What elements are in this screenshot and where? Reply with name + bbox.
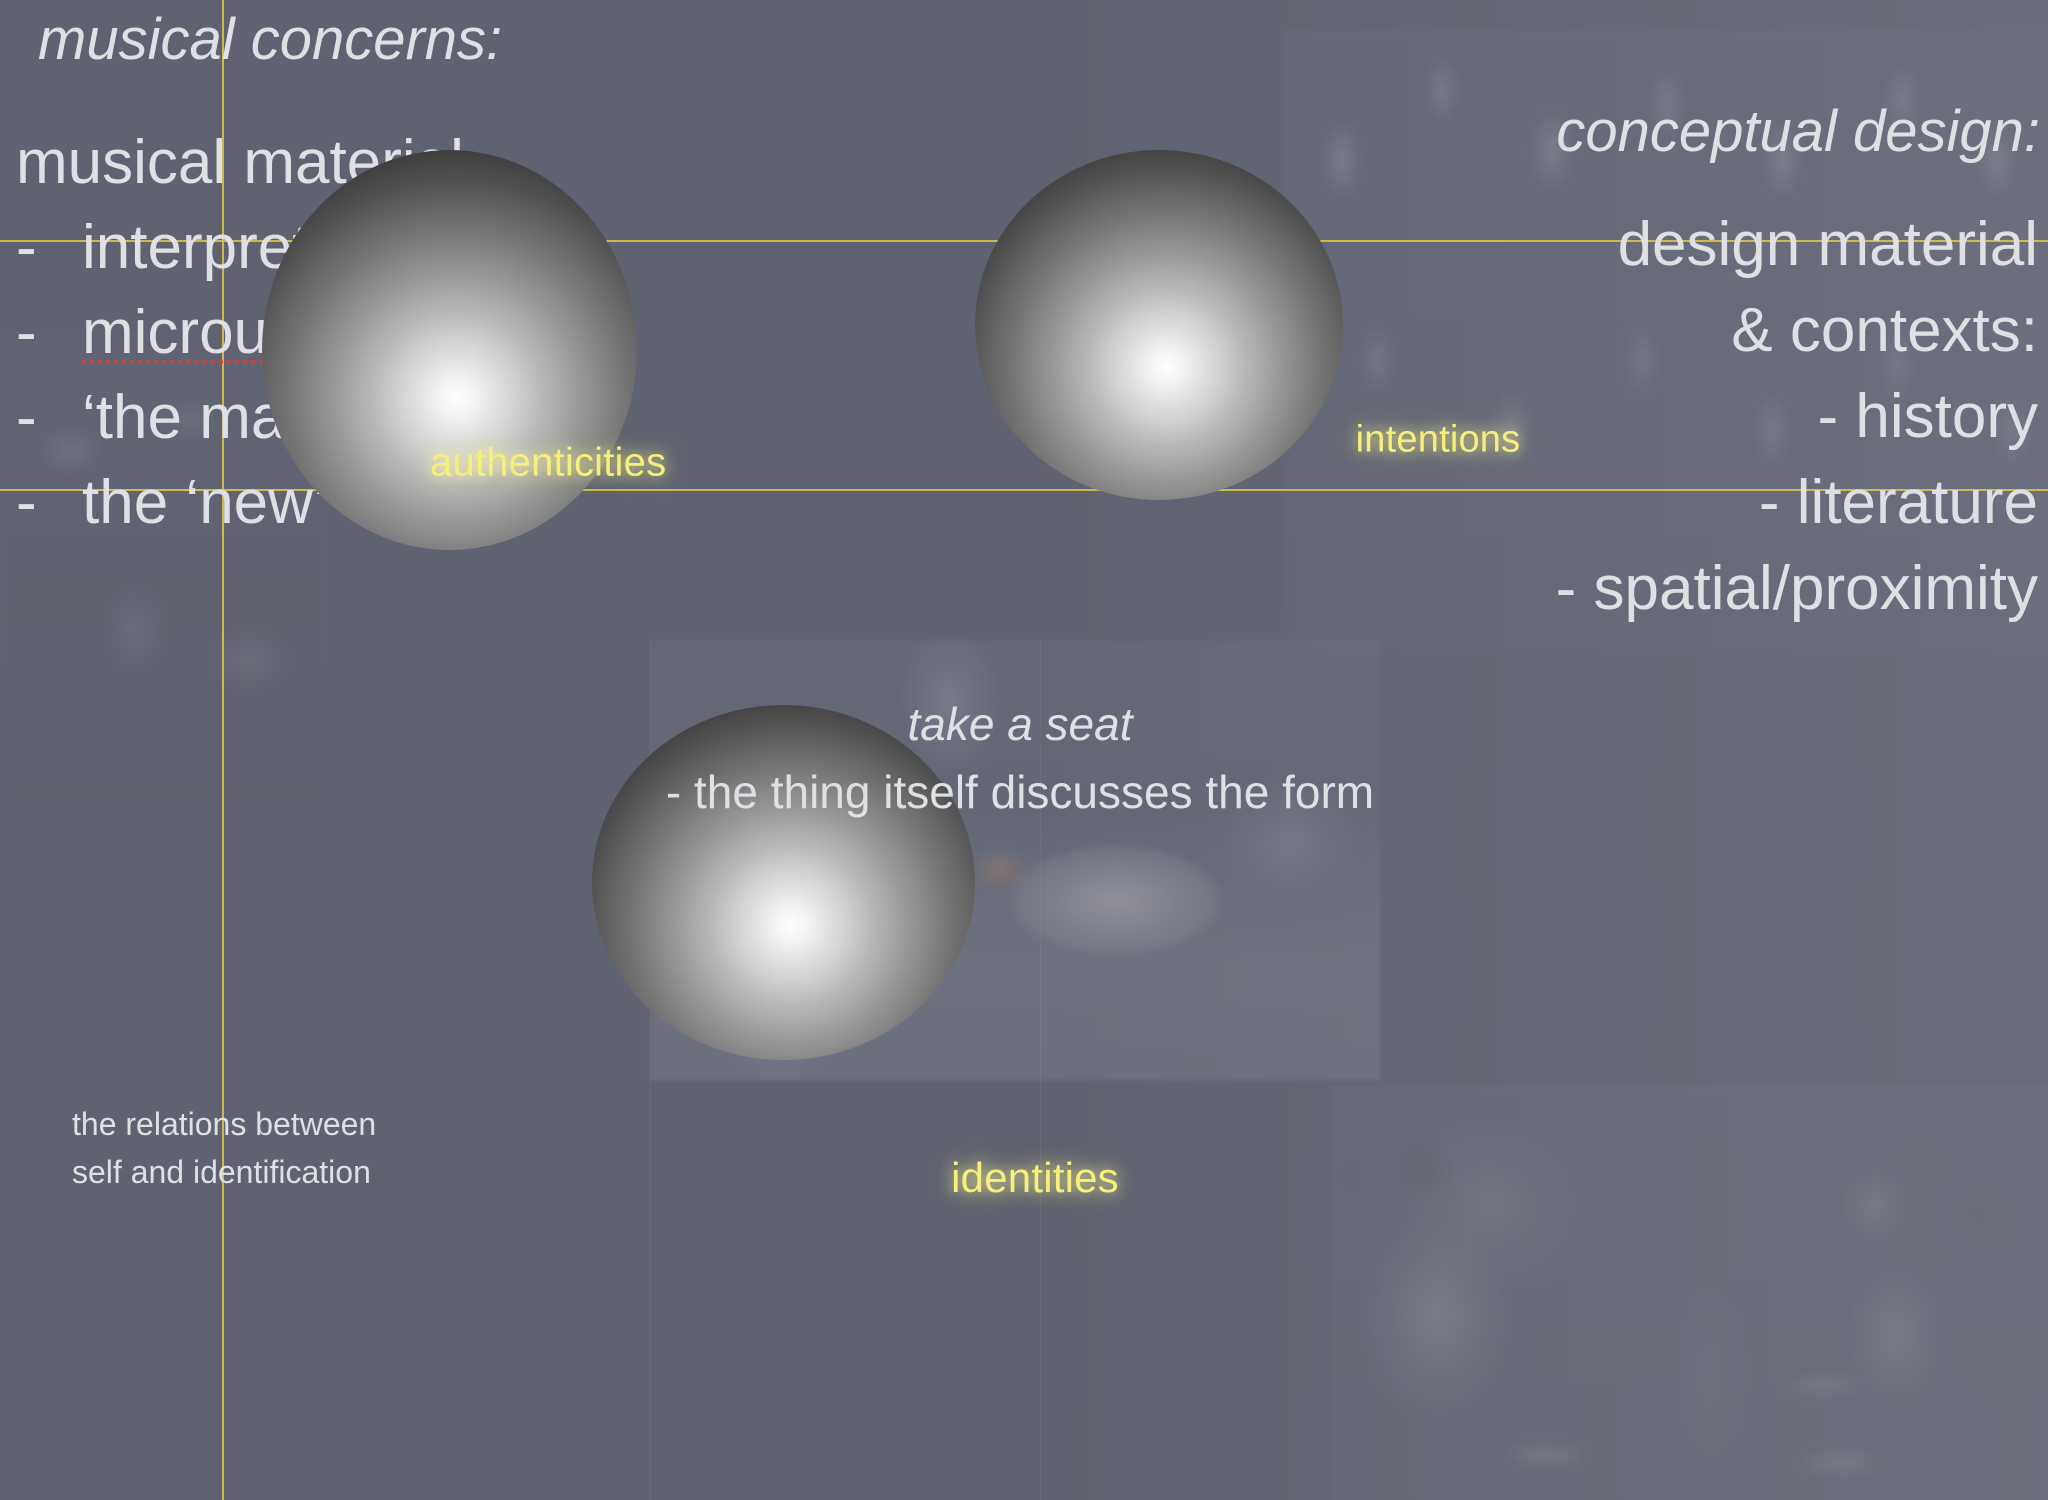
sphere-label-authenticities: authenticities [430,441,666,486]
sphere-intentions[interactable] [975,150,1343,500]
heading-conceptual-design: conceptual design: [1556,98,2040,165]
background-photo-cafe-right [1330,1085,2048,1500]
bullet-spatial-proximity: - spatial/proximity [1556,546,2038,632]
relations-line-2: self and identification [72,1148,376,1196]
subheading-design-material-line-1: design material [1556,202,2038,288]
block-take-a-seat: take a seat - the thing itself discusses… [570,690,1470,826]
bullet-dash: - [16,290,82,375]
block-relations-self-identification: the relations between self and identific… [72,1100,376,1196]
bullet-dash: - [16,205,82,290]
bullet-history: - history [1556,374,2038,460]
sphere-label-intentions: intentions [1356,419,1521,462]
block-design-material: design material & contexts: - history - … [1556,202,2038,632]
slide-canvas: musical concerns: musical material - int… [0,0,2048,1500]
sphere-label-identities: identities [951,1154,1119,1202]
bullet-label: the ‘new’ [82,460,327,545]
line-thing-itself: - the thing itself discusses the form [570,758,1470,826]
heading-musical-concerns: musical concerns: [38,6,502,73]
collage-seam-horizontal [650,1078,1042,1079]
relations-line-1: the relations between [72,1100,376,1148]
subheading-design-material-line-2: & contexts: [1556,288,2038,374]
heading-take-a-seat: take a seat [570,690,1470,758]
bullet-dash: - [16,375,82,460]
sphere-authenticities[interactable] [262,150,637,550]
bullet-dash: - [16,460,82,545]
bullet-literature: - literature [1556,460,2038,546]
